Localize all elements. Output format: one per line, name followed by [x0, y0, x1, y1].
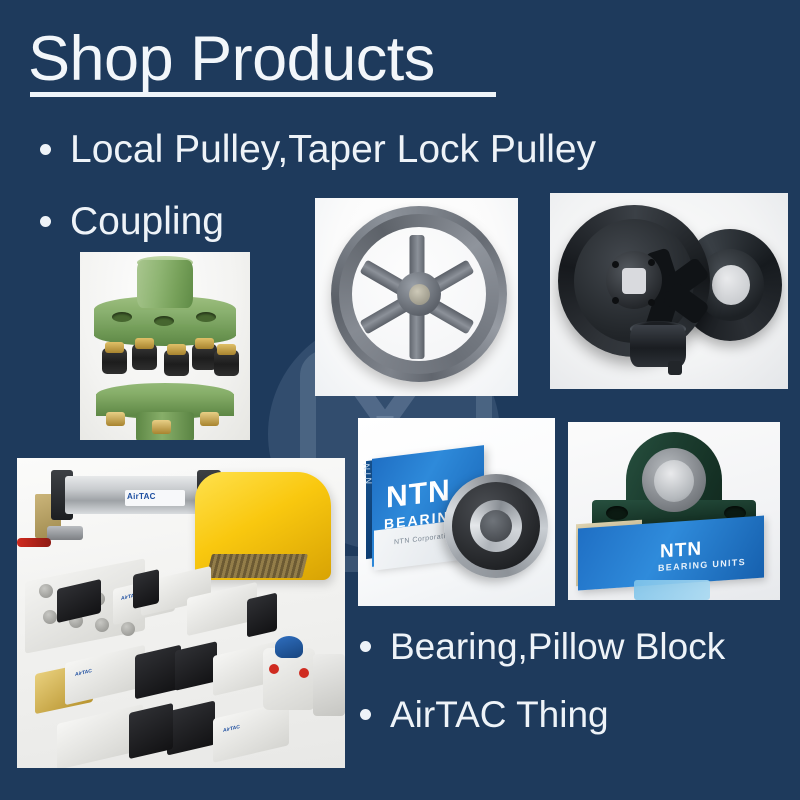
- shop-products-poster: Shop Products Local Pulley,Taper Lock Pu…: [0, 0, 800, 800]
- manifold-port: [121, 622, 135, 636]
- bullet-label: Coupling: [70, 202, 224, 241]
- ntn-units-poly-bag: [634, 580, 710, 600]
- taper-bush-tab: [668, 361, 682, 375]
- pillow-block-bore: [654, 460, 694, 502]
- manifold-port: [43, 610, 57, 624]
- pillow-block-mount-hole: [606, 506, 628, 520]
- coupling-bolt-hole: [112, 312, 132, 322]
- manifold-port: [39, 584, 53, 598]
- pulley-wheel-image: [315, 198, 518, 396]
- solenoid-coil: [133, 569, 159, 609]
- coupling-bolt-hole: [196, 312, 216, 322]
- bullet-dot-icon: [360, 709, 371, 720]
- taper-lock-image: [550, 193, 788, 389]
- coupling-image: [80, 252, 250, 440]
- ntn-bearing-image: NTN NTN BEARINGS NTN Corporation: [358, 418, 555, 606]
- taper-pulley-bore: [622, 268, 646, 294]
- bearing-bore: [480, 510, 512, 542]
- pillow-block-image: NTN BEARING UNITS: [568, 422, 780, 600]
- red-air-hose: [17, 538, 51, 547]
- compact-air-cylinder: [313, 654, 345, 716]
- manifold-port: [95, 618, 109, 632]
- coupling-nut: [217, 344, 236, 355]
- photo-ntn-bearing: NTN NTN BEARINGS NTN Corporation: [358, 418, 555, 606]
- page-title: Shop Products: [28, 26, 435, 92]
- taper-bolt-hole: [612, 297, 619, 304]
- taper-pulley-small-bore: [712, 265, 750, 305]
- bullet-dot-icon: [40, 216, 51, 227]
- bullet-item-pulley: Local Pulley,Taper Lock Pulley: [40, 130, 596, 169]
- photo-taper-lock-pulley: [550, 193, 788, 389]
- bullet-label: AirTAC Thing: [390, 696, 609, 733]
- regulator-port-plug: [299, 668, 309, 678]
- coupling-bolt-head: [152, 420, 171, 434]
- bullet-dot-icon: [40, 144, 51, 155]
- photo-pillow-block: NTN BEARING UNITS: [568, 422, 780, 600]
- coupling-bolt-head: [106, 412, 125, 426]
- taper-bolt-hole: [648, 259, 655, 266]
- photo-pulley-wheel: [315, 198, 518, 396]
- cylinder-piston-rod: [47, 526, 83, 540]
- bullet-item-bearing: Bearing,Pillow Block: [360, 628, 725, 665]
- taper-bolt-hole: [612, 261, 619, 268]
- solenoid-coil: [247, 593, 277, 638]
- taper-bolt-hole: [648, 299, 655, 306]
- coupling-bolt-head: [200, 412, 219, 426]
- coupling-nut: [167, 344, 186, 355]
- bullet-dot-icon: [360, 641, 371, 652]
- pulley-bore: [409, 284, 430, 305]
- foot-pedal-tread-plate: [206, 554, 308, 578]
- coupling-nut: [105, 342, 124, 353]
- regulator-port-plug: [269, 664, 279, 674]
- coupling-nut: [135, 338, 154, 349]
- photo-coupling: [80, 252, 250, 440]
- bullet-item-coupling: Coupling: [40, 202, 224, 241]
- bullet-item-airtac: AirTAC Thing: [360, 696, 609, 733]
- airtac-image: AirTAC AirTAC AirTAC: [17, 458, 345, 768]
- cylinder-brand-text: AirTAC: [127, 492, 156, 501]
- coupling-nut: [195, 338, 214, 349]
- coupling-hub: [137, 260, 193, 308]
- bullet-label: Bearing,Pillow Block: [390, 628, 725, 665]
- regulator-adjust-knob: [275, 636, 303, 658]
- solenoid-coil: [175, 641, 217, 691]
- photo-airtac-components: AirTAC AirTAC AirTAC: [17, 458, 345, 768]
- bullet-label: Local Pulley,Taper Lock Pulley: [70, 130, 596, 169]
- coupling-bolt-hole: [154, 316, 174, 326]
- title-underline: [30, 92, 496, 97]
- solenoid-coil: [167, 700, 215, 755]
